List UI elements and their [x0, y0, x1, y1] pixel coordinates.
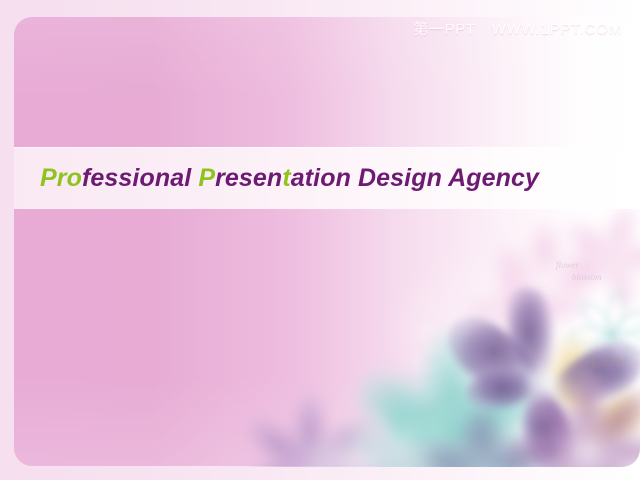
watermark-url: WWW.1PPT.COM — [492, 22, 622, 37]
title-segment-2: fessional — [82, 164, 198, 192]
title-segment-1: Pro — [40, 164, 82, 192]
slide-content-panel — [14, 17, 640, 466]
title-segment-6: ation Design Agency — [291, 164, 539, 192]
title-segment-3: P — [198, 164, 215, 192]
panel-shading-overlay — [14, 17, 640, 466]
presentation-slide: flower blossom — [0, 0, 640, 480]
title-segment-5: t — [282, 164, 290, 192]
watermark: 第一PPT WWW.1PPT.COM — [413, 22, 622, 37]
title-segment-4: resen — [215, 164, 282, 192]
watermark-brand: 第一PPT — [413, 22, 475, 37]
title-band: Professional Presentation Design Agency — [14, 147, 640, 209]
page-title: Professional Presentation Design Agency — [14, 166, 539, 191]
